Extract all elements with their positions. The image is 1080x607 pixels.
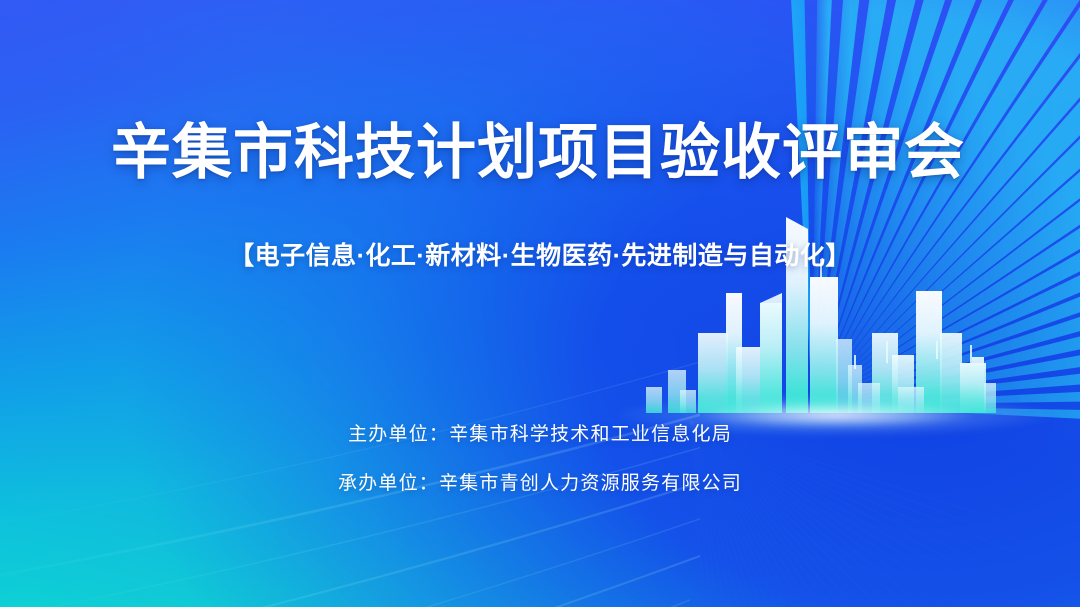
host-organization-line: 主办单位：辛集市科学技术和工业信息化局 [0,425,1080,444]
co-organizer-line: 承办单位：辛集市青创人力资源服务有限公司 [0,474,1080,493]
organizer-block: 主办单位：辛集市科学技术和工业信息化局 承办单位：辛集市青创人力资源服务有限公司 [0,425,1080,493]
page-subtitle: 【电子信息·化工·新材料·生物医药·先进制造与自动化】 [0,236,1080,272]
event-poster: 辛集市科技计划项目验收评审会 【电子信息·化工·新材料·生物医药·先进制造与自动… [0,0,1080,607]
page-title: 辛集市科技计划项目验收评审会 [0,121,1080,186]
